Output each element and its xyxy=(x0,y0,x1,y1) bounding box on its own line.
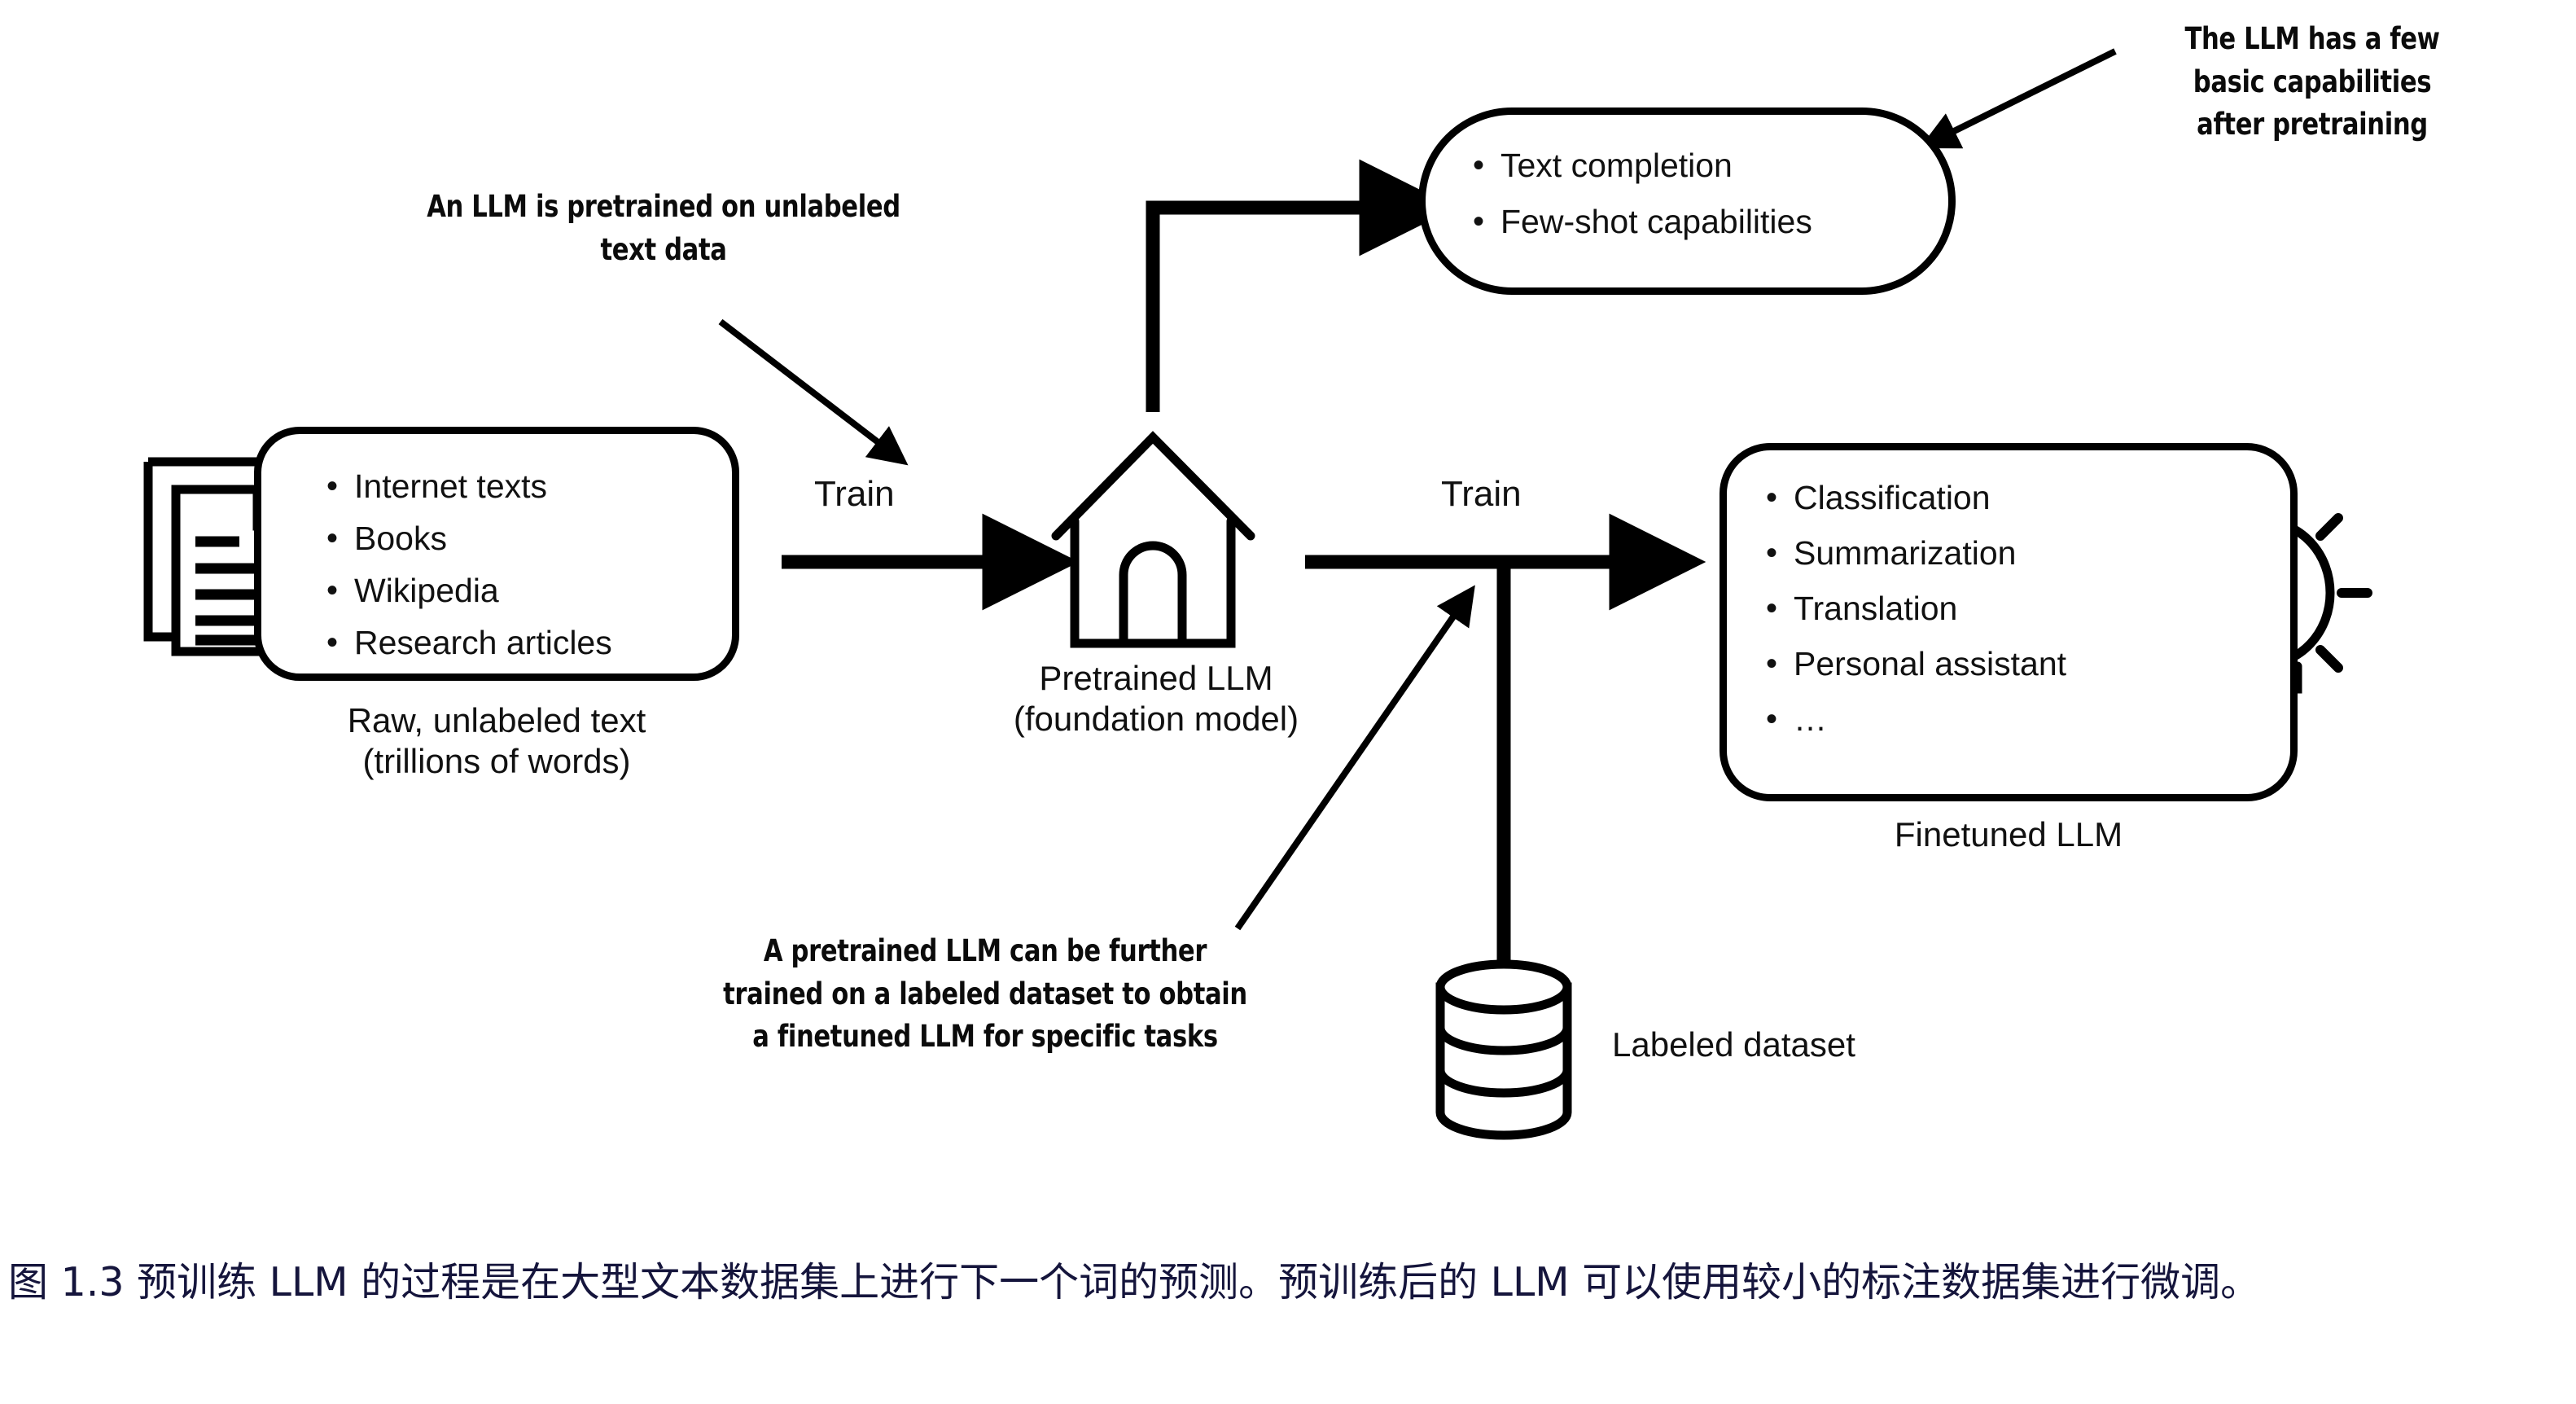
pretrained-llm-caption: Pretrained LLM (foundation model) xyxy=(920,658,1392,739)
finetuned-list: • Classification • Summarization • Trans… xyxy=(1766,481,2066,736)
bullet-glyph: • xyxy=(1766,592,1794,625)
train-label-left: Train xyxy=(814,474,895,515)
bullet-glyph: • xyxy=(1473,205,1500,238)
database-icon xyxy=(1440,964,1567,1135)
list-item: • Research articles xyxy=(326,626,612,660)
source-data-box: • Internet texts • Books • Wikipedia • R… xyxy=(254,427,739,681)
finetuned-capabilities-box: • Classification • Summarization • Trans… xyxy=(1720,443,2298,801)
bullet-glyph: • xyxy=(1473,149,1500,182)
pointer-capabilities-note xyxy=(1947,51,2115,134)
annotation-capabilities: The LLM has a few basic capabilities aft… xyxy=(2110,18,2515,147)
list-item: • Internet texts xyxy=(326,470,612,503)
annotation-pretraining: An LLM is pretrained on unlabeled text d… xyxy=(353,186,975,271)
source-data-list: • Internet texts • Books • Wikipedia • R… xyxy=(326,470,612,660)
list-item: • … xyxy=(1766,703,2066,736)
pointer-pretrain-note xyxy=(721,322,883,446)
list-item: • Text completion xyxy=(1473,149,1812,182)
finetuned-llm-caption: Finetuned LLM xyxy=(1720,814,2298,855)
source-data-caption: Raw, unlabeled text (trillions of words) xyxy=(228,700,765,781)
train-label-right: Train xyxy=(1441,474,1522,515)
annotation-finetuning: A pretrained LLM can be further trained … xyxy=(648,930,1322,1059)
bullet-glyph: • xyxy=(326,470,354,502)
bullet-glyph: • xyxy=(326,574,354,607)
list-item: • Translation xyxy=(1766,592,2066,625)
house-icon xyxy=(1056,437,1251,643)
list-item: • Wikipedia xyxy=(326,574,612,608)
bullet-glyph: • xyxy=(1766,481,1794,514)
capabilities-list: • Text completion • Few-shot capabilitie… xyxy=(1473,149,1812,239)
figure-caption: 图 1.3 预训练 LLM 的过程是在大型文本数据集上进行下一个词的预测。预训练… xyxy=(8,1254,2573,1311)
bullet-glyph: • xyxy=(1766,703,1794,735)
list-item: • Summarization xyxy=(1766,537,2066,570)
capabilities-box: • Text completion • Few-shot capabilitie… xyxy=(1418,107,1956,295)
figure-canvas: • Internet texts • Books • Wikipedia • R… xyxy=(0,0,2576,1404)
list-item: • Few-shot capabilities xyxy=(1473,205,1812,239)
list-item: • Personal assistant xyxy=(1766,647,2066,681)
list-item: • Classification xyxy=(1766,481,2066,515)
bullet-glyph: • xyxy=(1766,647,1794,680)
labeled-dataset-label: Labeled dataset xyxy=(1612,1024,2068,1065)
bullet-glyph: • xyxy=(326,522,354,555)
arrow-to-capabilities xyxy=(1153,208,1374,412)
bullet-glyph: • xyxy=(1766,537,1794,569)
bullet-glyph: • xyxy=(326,626,354,659)
list-item: • Books xyxy=(326,522,612,555)
